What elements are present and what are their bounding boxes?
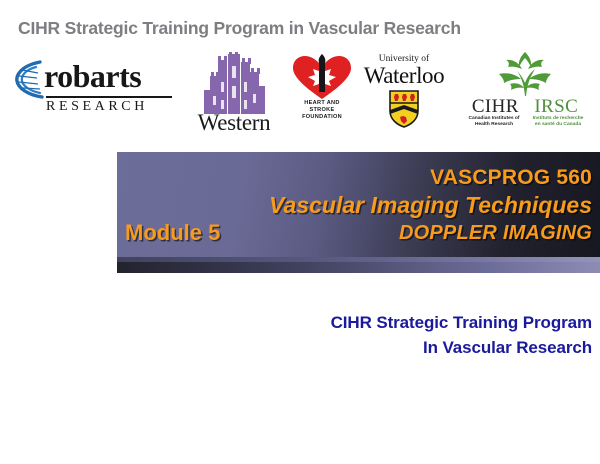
logo-heart-and-stroke-foundation: HEART AND STROKE FOUNDATION bbox=[291, 54, 353, 130]
logo-western-university: Western bbox=[188, 52, 280, 136]
module-label: Module 5 bbox=[125, 220, 220, 246]
logo-cihr-subtitle-en: Canadian Institutes of Health Research bbox=[462, 116, 526, 128]
logo-robarts-wordmark: robarts bbox=[44, 58, 141, 95]
course-code: VASCPROG 560 bbox=[430, 166, 592, 190]
page-title: CIHR Strategic Training Program in Vascu… bbox=[18, 18, 461, 39]
title-banner-background: VASCPROG 560 Vascular Imaging Techniques… bbox=[117, 152, 600, 257]
logo-cihr-acronyms: CIHR IRSC bbox=[460, 96, 590, 118]
university-tower-icon bbox=[188, 52, 280, 116]
logo-cihr-acronym-en: CIHR bbox=[472, 96, 519, 117]
logo-waterloo-wordmark: Waterloo bbox=[358, 63, 450, 89]
sponsor-logo-strip: robarts RESEARCH bbox=[0, 48, 600, 136]
cihr-leaf-icon bbox=[496, 50, 554, 98]
waterloo-shield-icon bbox=[389, 90, 419, 128]
title-banner-accent-strip bbox=[117, 257, 600, 273]
program-credit-line-2: In Vascular Research bbox=[331, 335, 592, 360]
title-banner: VASCPROG 560 Vascular Imaging Techniques… bbox=[117, 152, 600, 273]
logo-university-of-waterloo: University of Waterloo bbox=[358, 54, 450, 132]
logo-cihr-irsc: CIHR IRSC Canadian Institutes of Health … bbox=[460, 50, 590, 134]
module-topic: DOPPLER IMAGING bbox=[399, 222, 592, 245]
program-credit-line-1: CIHR Strategic Training Program bbox=[331, 310, 592, 335]
program-credit-block: CIHR Strategic Training Program In Vascu… bbox=[331, 310, 592, 360]
course-subject: Vascular Imaging Techniques bbox=[269, 192, 592, 219]
heart-icon bbox=[291, 54, 353, 100]
logo-western-wordmark: Western bbox=[188, 110, 280, 136]
logo-robarts-subtitle: RESEARCH bbox=[46, 99, 148, 115]
logo-cihr-subtitle-fr: Instituts de recherche en santé du Canad… bbox=[526, 116, 590, 128]
logo-robarts-research: robarts RESEARCH bbox=[14, 56, 174, 122]
logo-robarts-divider bbox=[46, 96, 172, 98]
logo-hsf-wordmark: HEART AND STROKE FOUNDATION bbox=[291, 100, 353, 121]
logo-cihr-acronym-fr: IRSC bbox=[534, 96, 578, 117]
dna-helix-icon bbox=[14, 60, 48, 100]
